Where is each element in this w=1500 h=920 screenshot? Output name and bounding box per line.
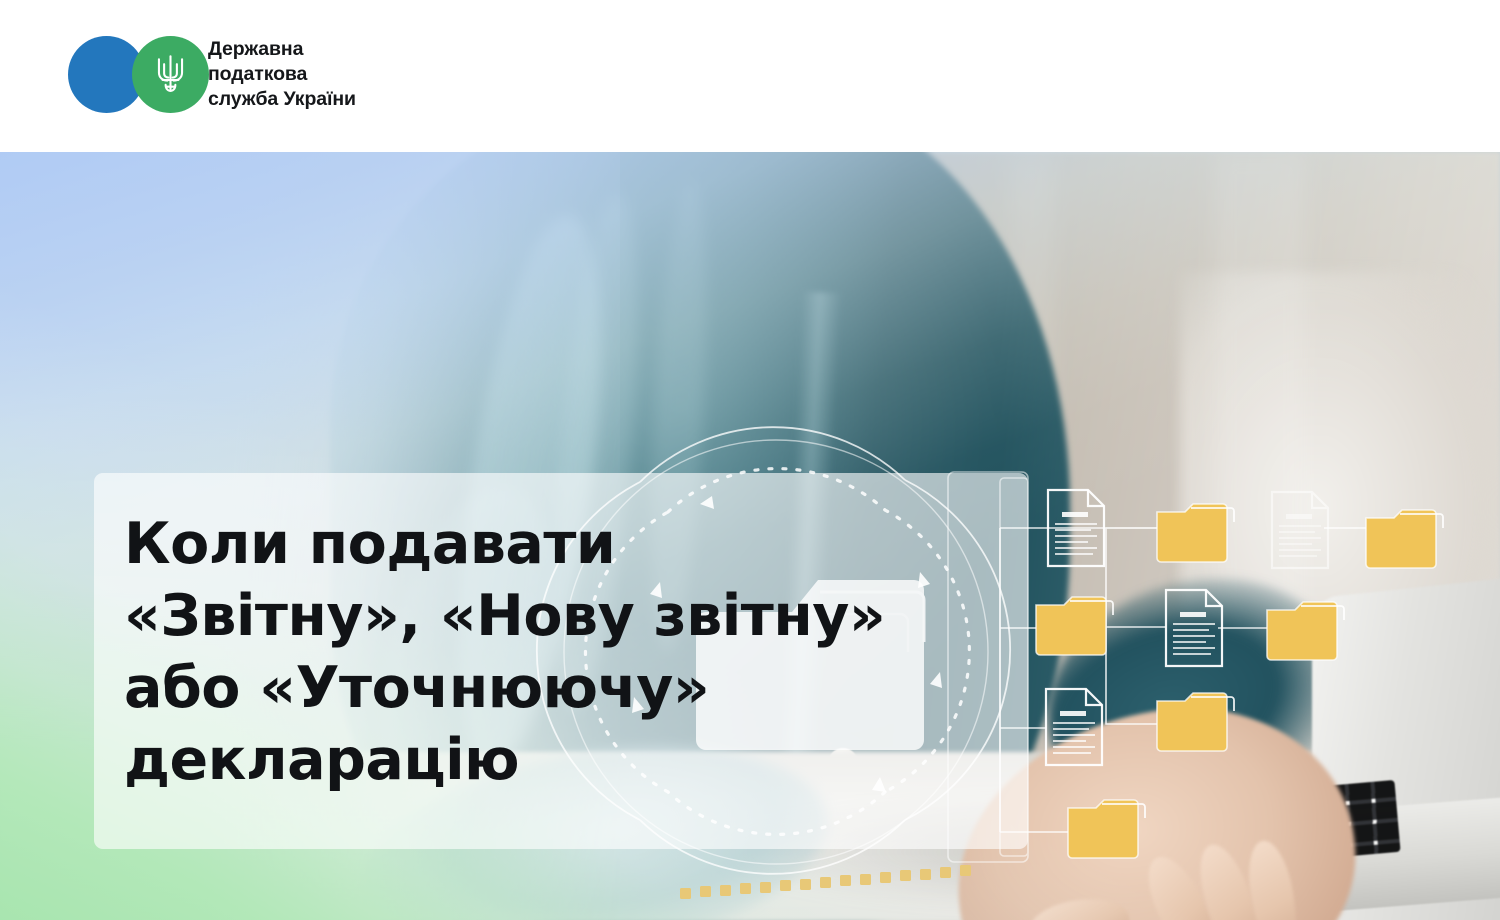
org-name: Державна податкова служба України: [208, 37, 356, 112]
logo[interactable]: Державна податкова служба України: [68, 36, 356, 113]
banner-root: Державна податкова служба України: [0, 0, 1500, 920]
ukraine-trident-icon: [152, 52, 189, 97]
header-bar: Державна податкова служба України: [0, 0, 1500, 152]
logo-circles: [68, 36, 198, 113]
hero-section: Коли подавати «Звітну», «Нову звітну» аб…: [0, 152, 1500, 920]
page-title: Коли подавати «Звітну», «Нову звітну» аб…: [124, 508, 1024, 796]
